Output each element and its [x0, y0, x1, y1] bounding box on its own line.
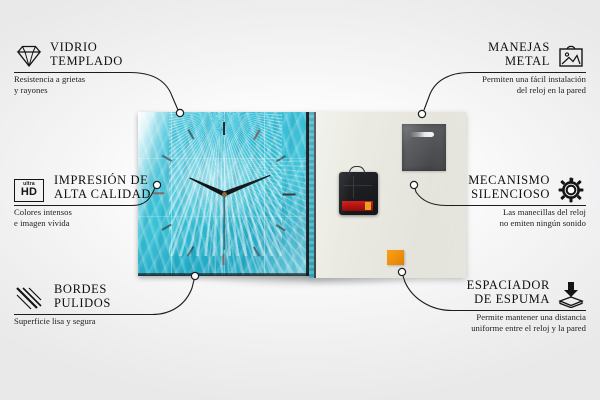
ultra-hd-large-label: HD [21, 187, 37, 198]
clock-tick-4 [276, 224, 286, 231]
callout-desc-line1: Superficie lisa y segura [14, 316, 164, 327]
callout-title-line2: TEMPLADO [50, 54, 154, 68]
callout-title-line1: MECANISMO [426, 173, 550, 187]
callout-espaciador-espuma: ESPACIADOR DE ESPUMA Permite mantener un… [416, 278, 586, 333]
clock-tick-9 [153, 193, 164, 195]
clock-tick-6 [223, 254, 225, 265]
gear-icon [556, 175, 586, 205]
product-infographic: VIDRIO TEMPLADO Resistencia a grietas y … [0, 0, 600, 400]
clock-tick-12 [223, 122, 225, 135]
clock-hour-hand [189, 176, 226, 197]
callout-title-line1: VIDRIO [50, 40, 154, 54]
clock-tick-11 [187, 129, 194, 139]
callout-desc-line2: y rayones [14, 85, 154, 96]
callout-title-line2: ALTA CALIDAD [54, 187, 154, 201]
clock-tick-7 [187, 246, 194, 256]
callout-manejas-metal: MANEJAS METAL Permiten una fácil instala… [426, 40, 586, 95]
callout-title-line1: MANEJAS [426, 40, 550, 54]
ultra-hd-icon: ultra HD [14, 175, 44, 205]
callout-desc-line2: no emiten ningún sonido [426, 218, 586, 229]
callout-desc-line2: uniforme entre el reloj y la pared [416, 323, 586, 334]
callout-title-line1: IMPRESIÓN DE [54, 173, 154, 187]
callout-desc-line1: Colores intensos [14, 207, 154, 218]
panel-edge-bottom [138, 273, 310, 276]
clock-tick-3 [283, 194, 296, 196]
callout-bordes-pulidos: BORDES PULIDOS Superficie lisa y segura [14, 282, 164, 327]
clock-dial [138, 112, 310, 276]
callout-desc-line1: Las manecillas del reloj [426, 207, 586, 218]
callout-desc-line2: del reloj en la pared [426, 85, 586, 96]
callout-title-line1: BORDES [54, 282, 164, 296]
foam-spacer-arrow-icon [556, 279, 586, 309]
clock-front-panel [138, 112, 310, 276]
callout-title-line2: SILENCIOSO [426, 187, 550, 201]
callout-vidrio-templado: VIDRIO TEMPLADO Resistencia a grietas y … [14, 40, 154, 95]
callout-desc-line1: Permiten una fácil instalación [426, 74, 586, 85]
callout-title-line2: DE ESPUMA [416, 292, 550, 306]
callout-title-line1: ESPACIADOR [416, 278, 550, 292]
clock-tick-8 [162, 224, 172, 231]
diamond-icon [14, 41, 44, 71]
clock-tick-2 [276, 155, 286, 162]
clock-tick-5 [253, 246, 260, 256]
callout-impresion-alta-calidad: ultra HD IMPRESIÓN DE ALTA CALIDAD Color… [14, 173, 154, 228]
beveled-edges-icon [14, 283, 44, 313]
clock-second-hand [223, 194, 224, 250]
picture-frame-hanger-icon [556, 41, 586, 71]
clock-tick-10 [162, 155, 172, 162]
callout-title-line2: METAL [426, 54, 550, 68]
clock-tick-1 [253, 129, 260, 139]
callout-title-line2: PULIDOS [54, 296, 164, 310]
callout-desc-line1: Permite mantener una distancia [416, 312, 586, 323]
callout-desc-line1: Resistencia a grietas [14, 74, 154, 85]
clock-minute-hand [223, 173, 271, 196]
callout-desc-line2: e imagen vívida [14, 218, 154, 229]
callout-mecanismo-silencioso: MECANISMO SILENCIOSO Las manecillas del … [426, 173, 586, 228]
clock-center-cap [222, 192, 227, 197]
